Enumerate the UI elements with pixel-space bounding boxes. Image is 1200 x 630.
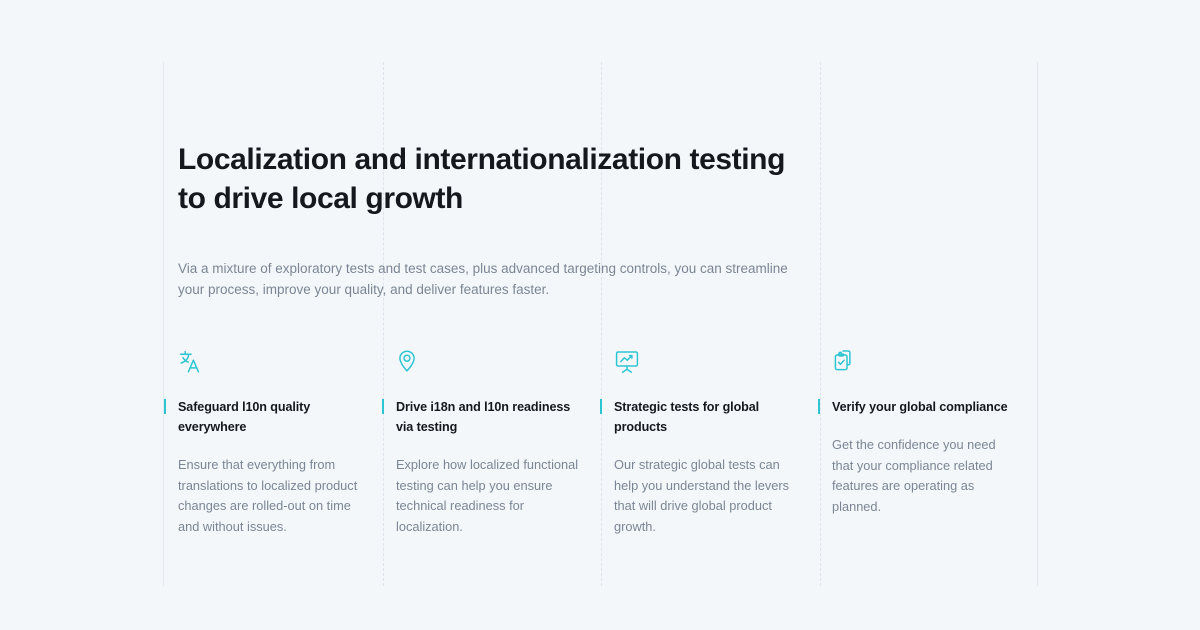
feature-title: Verify your global compliance [832, 397, 1018, 417]
feature-title: Strategic tests for global products [614, 397, 800, 437]
feature-title: Safeguard l10n quality everywhere [178, 397, 364, 437]
page-headline: Localization and internationalization te… [178, 140, 818, 218]
feature-title-row: Safeguard l10n quality everywhere [178, 397, 364, 437]
clipboard-check-icon [832, 345, 1018, 375]
feature-title-row: Strategic tests for global products [614, 397, 800, 437]
page-subheadline: Via a mixture of exploratory tests and t… [178, 258, 810, 300]
location-pin-icon [396, 345, 582, 375]
feature-title-row: Verify your global compliance [832, 397, 1018, 417]
feature-card-3: Strategic tests for global products Our … [614, 345, 832, 537]
accent-bar [600, 399, 602, 414]
feature-card-4: Verify your global compliance Get the co… [832, 345, 1050, 537]
content-container: Localization and internationalization te… [178, 62, 1038, 537]
feature-card-2: Drive i18n and l10n readiness via testin… [396, 345, 614, 537]
feature-title: Drive i18n and l10n readiness via testin… [396, 397, 582, 437]
accent-bar [164, 399, 166, 414]
feature-title-row: Drive i18n and l10n readiness via testin… [396, 397, 582, 437]
feature-body: Get the confidence you need that your co… [832, 435, 1018, 517]
translate-icon [178, 345, 364, 375]
divider-left-solid [163, 62, 164, 586]
feature-columns: Safeguard l10n quality everywhere Ensure… [178, 345, 1038, 537]
feature-card-1: Safeguard l10n quality everywhere Ensure… [178, 345, 396, 537]
accent-bar [818, 399, 820, 414]
feature-body: Our strategic global tests can help you … [614, 455, 800, 537]
feature-body: Ensure that everything from translations… [178, 455, 364, 537]
presentation-chart-icon [614, 345, 800, 375]
feature-body: Explore how localized functional testing… [396, 455, 582, 537]
page-root: Localization and internationalization te… [0, 0, 1200, 630]
accent-bar [382, 399, 384, 414]
